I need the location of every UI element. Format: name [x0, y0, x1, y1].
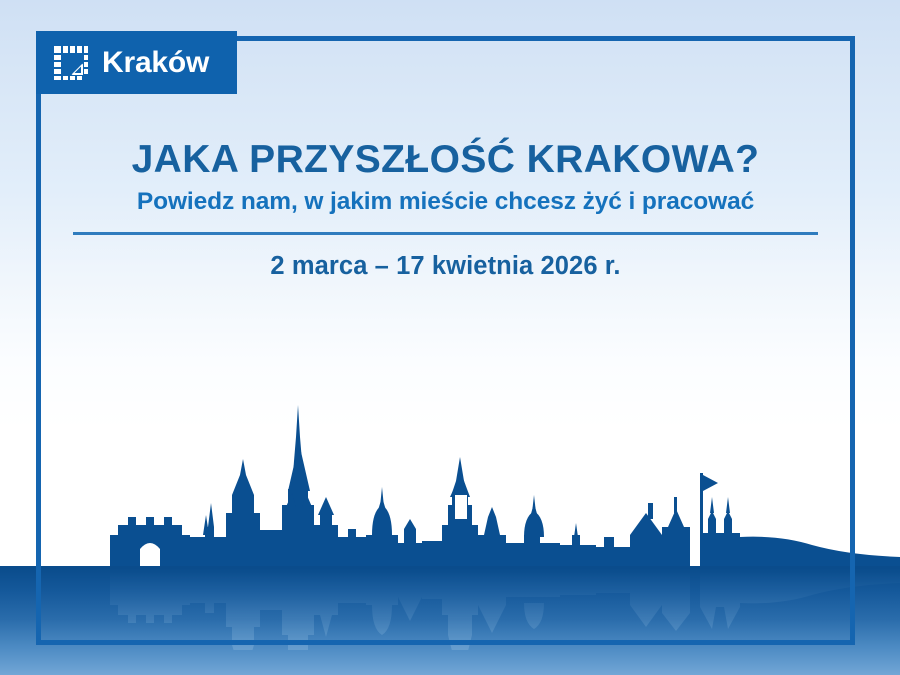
poster-canvas: Kraków JAKA PRZYSZŁOŚĆ KRAKOWA? Powiedz … — [0, 0, 900, 675]
krakow-logo[interactable]: Kraków — [36, 31, 237, 94]
krakow-wordmark: Kraków — [102, 48, 209, 78]
divider-rule — [73, 232, 818, 235]
page-title: JAKA PRZYSZŁOŚĆ KRAKOWA? — [36, 140, 855, 181]
page-subtitle: Powiedz nam, w jakim mieście chcesz żyć … — [36, 189, 855, 216]
krakow-crest-icon — [53, 45, 89, 81]
krakow-skyline-silhouette — [0, 385, 900, 570]
krakow-skyline-reflection — [0, 570, 900, 650]
poster-text-block: JAKA PRZYSZŁOŚĆ KRAKOWA? Powiedz nam, w … — [36, 140, 855, 280]
date-range: 2 marca – 17 kwietnia 2026 r. — [36, 252, 855, 280]
